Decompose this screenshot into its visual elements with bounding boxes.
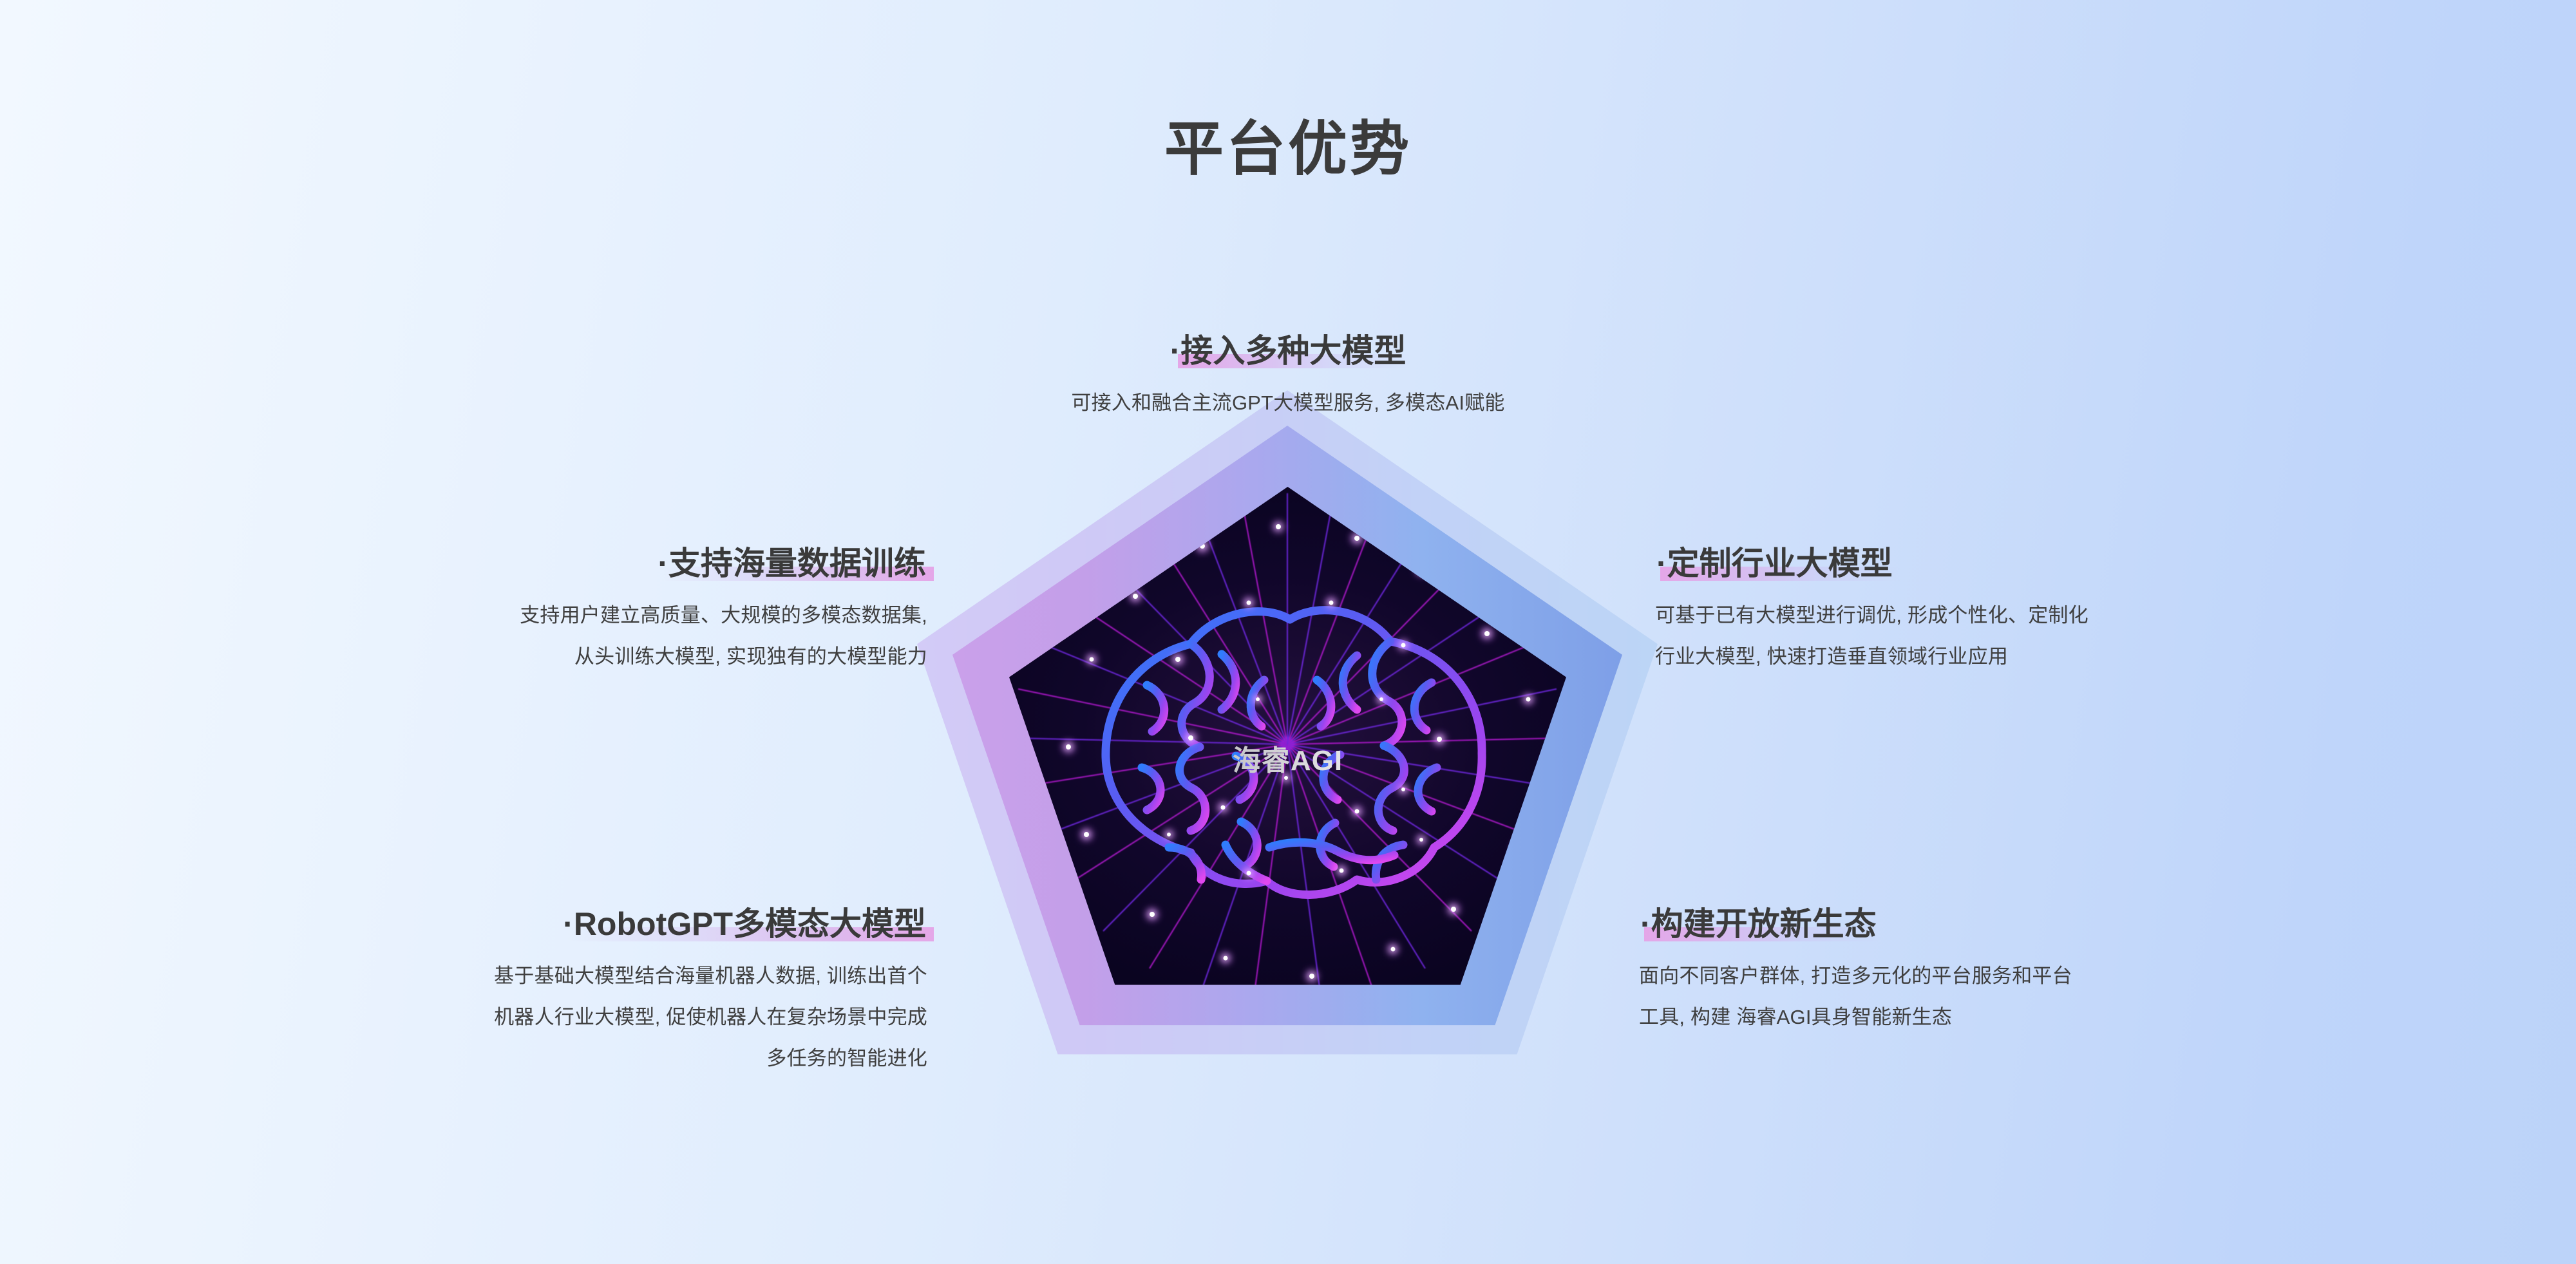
feature-body-line: 机器人行业大模型, 促使机器人在复杂场景中完成 [77, 997, 927, 1038]
brand-label: 海睿AGI [1009, 737, 1566, 778]
feature-body-line: 基于基础大模型结合海量机器人数据, 训练出首个 [77, 956, 927, 997]
feature-custom-industry-model: ·定制行业大模型 可基于已有大模型进行调优, 形成个性化、定制化 行业大模型, … [1655, 545, 2512, 677]
feature-heading: ·构建开放新生态 [1639, 905, 1878, 943]
feature-body-line: 可接入和融合主流GPT大模型服务, 多模态AI赋能 [644, 382, 1932, 424]
feature-massive-data-training: ·支持海量数据训练 支持用户建立高质量、大规模的多模态数据集, 从头训练大模型,… [77, 545, 927, 677]
feature-body: 支持用户建立高质量、大规模的多模态数据集, 从头训练大模型, 实现独有的大模型能… [77, 595, 927, 677]
feature-body-line: 面向不同客户群体, 打造多元化的平台服务和平台 [1639, 956, 2512, 997]
bullet-dot-icon: · [658, 545, 668, 581]
feature-heading: ·支持海量数据训练 [656, 545, 927, 582]
heading-text: 构建开放新生态 [1651, 906, 1877, 942]
feature-heading: ·定制行业大模型 [1655, 545, 1894, 582]
page-title: 平台优势 [0, 120, 2576, 179]
bullet-dot-icon: · [563, 906, 574, 942]
feature-heading: ·RobotGPT多模态大模型 [562, 905, 927, 943]
center-pentagon-graphic: 海睿AGI [917, 390, 1658, 1131]
feature-body-line: 可基于已有大模型进行调优, 形成个性化、定制化 [1655, 595, 2512, 636]
heading-text: 定制行业大模型 [1667, 545, 1893, 581]
bullet-dot-icon: · [1170, 333, 1181, 369]
heading-text: 接入多种大模型 [1180, 333, 1406, 369]
feature-body-line: 行业大模型, 快速打造垂直领域行业应用 [1655, 636, 2512, 677]
feature-body-line: 支持用户建立高质量、大规模的多模态数据集, [77, 595, 927, 636]
heading-text: 支持海量数据训练 [668, 545, 926, 581]
feature-body-line: 多任务的智能进化 [77, 1038, 927, 1079]
heading-text: RobotGPT多模态大模型 [574, 906, 926, 942]
feature-body: 基于基础大模型结合海量机器人数据, 训练出首个 机器人行业大模型, 促使机器人在… [77, 956, 927, 1079]
feature-heading: ·接入多种大模型 [1169, 332, 1408, 370]
feature-robotgpt-multimodal-model: ·RobotGPT多模态大模型 基于基础大模型结合海量机器人数据, 训练出首个 … [77, 905, 927, 1079]
feature-open-ecosystem: ·构建开放新生态 面向不同客户群体, 打造多元化的平台服务和平台 工具, 构建 … [1639, 905, 2512, 1038]
feature-body: 可基于已有大模型进行调优, 形成个性化、定制化 行业大模型, 快速打造垂直领域行… [1655, 595, 2512, 677]
feature-access-multiple-models: ·接入多种大模型 可接入和融合主流GPT大模型服务, 多模态AI赋能 [644, 332, 1932, 424]
feature-body: 面向不同客户群体, 打造多元化的平台服务和平台 工具, 构建 海睿AGI具身智能… [1639, 956, 2512, 1038]
bullet-dot-icon: · [1656, 545, 1667, 581]
feature-body-line: 工具, 构建 海睿AGI具身智能新生态 [1639, 997, 2512, 1038]
feature-body-line: 从头训练大模型, 实现独有的大模型能力 [77, 636, 927, 677]
bullet-dot-icon: · [1640, 906, 1651, 942]
feature-body: 可接入和融合主流GPT大模型服务, 多模态AI赋能 [644, 382, 1932, 424]
